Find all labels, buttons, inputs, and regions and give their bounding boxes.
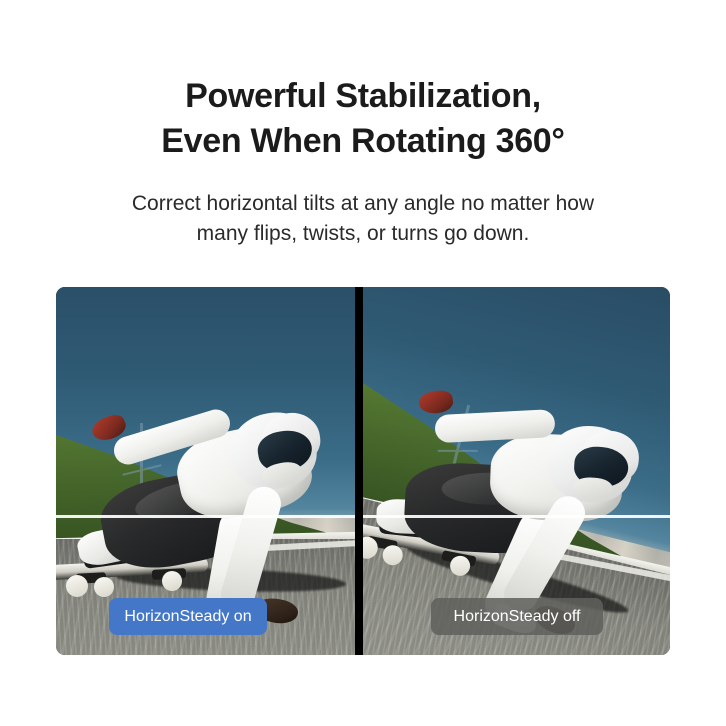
comparison-media: HorizonSteady on xyxy=(56,287,670,655)
skateboard-wheel xyxy=(94,577,114,597)
headline-line-2: Even When Rotating 360° xyxy=(0,119,726,164)
label-horizonsteady-off-text: HorizonSteady off xyxy=(454,608,581,626)
page-title: Powerful Stabilization, Even When Rotati… xyxy=(0,74,726,164)
label-horizonsteady-on-text: HorizonSteady on xyxy=(124,608,251,626)
red-glove xyxy=(418,389,455,416)
promo-page: Powerful Stabilization, Even When Rotati… xyxy=(0,0,726,726)
skateboard-wheel xyxy=(66,575,88,597)
label-horizonsteady-off: HorizonSteady off xyxy=(431,598,603,635)
headline-line-1: Powerful Stabilization, xyxy=(0,74,726,119)
horizon-reference-line xyxy=(56,515,355,518)
label-horizonsteady-on: HorizonSteady on xyxy=(109,598,267,635)
comparison-panel-on: HorizonSteady on xyxy=(56,287,355,655)
subtitle-line-1: Correct horizontal tilts at any angle no… xyxy=(0,189,726,219)
comparison-panel-off: HorizonSteady off xyxy=(363,287,670,655)
panel-divider xyxy=(355,287,363,655)
page-subtitle: Correct horizontal tilts at any angle no… xyxy=(0,189,726,249)
horizon-reference-line xyxy=(363,515,670,518)
subtitle-line-2: many flips, twists, or turns go down. xyxy=(0,219,726,249)
skateboard-wheel xyxy=(162,571,182,591)
